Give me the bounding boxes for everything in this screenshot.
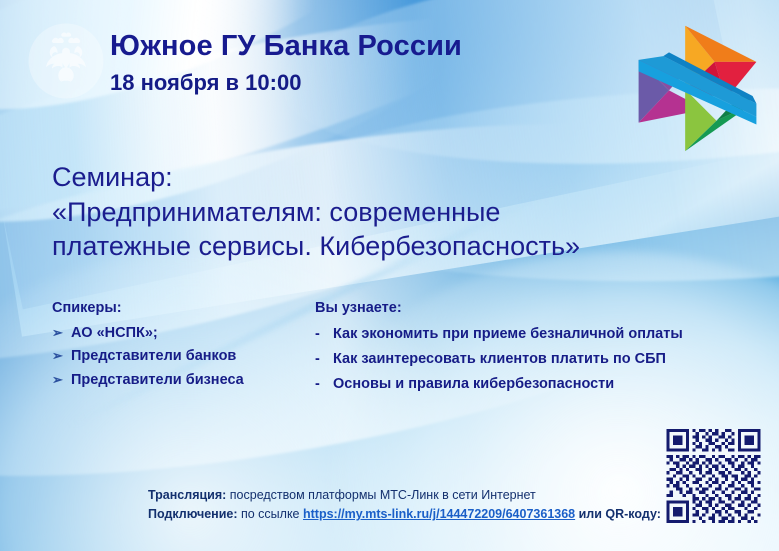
- poster-header: Южное ГУ Банка России 18 ноября в 10:00: [110, 31, 462, 95]
- speakers-heading: Спикеры:: [52, 298, 244, 320]
- footer: Трансляция: посредством платформы МТС-Ли…: [148, 486, 661, 525]
- qr-hint-text: или QR-коду:: [575, 507, 661, 521]
- learn-heading: Вы узнаете:: [315, 298, 683, 320]
- seminar-kicker: Семинар:: [52, 160, 580, 195]
- arrow-bullet-icon: ➢: [52, 322, 71, 343]
- broadcast-text: посредством платформы МТС-Линк в сети Ин…: [226, 488, 535, 502]
- connect-label: Подключение:: [148, 507, 238, 521]
- learn-section: Вы узнаете: - Как экономить при приеме б…: [315, 298, 683, 397]
- arrow-bullet-icon: ➢: [52, 345, 71, 366]
- learn-label: Как экономить при приеме безналичной опл…: [333, 322, 683, 347]
- dash-bullet-icon: -: [315, 322, 333, 347]
- list-item: - Как экономить при приеме безналичной о…: [315, 322, 683, 347]
- page-title: Южное ГУ Банка России: [110, 31, 462, 63]
- list-item: ➢ Представители банков: [52, 345, 244, 368]
- learn-label: Основы и правила кибербезопасности: [333, 372, 614, 397]
- qr-code[interactable]: [666, 429, 761, 523]
- broadcast-line: Трансляция: посредством платформы МТС-Ли…: [148, 486, 661, 505]
- list-item: ➢ Представители бизнеса: [52, 369, 244, 392]
- speaker-label: Представители банков: [71, 345, 236, 368]
- seminar-title-line-2: платежные сервисы. Кибербезопасность»: [52, 229, 580, 264]
- list-item: - Основы и правила кибербезопасности: [315, 372, 683, 397]
- learn-list: - Как экономить при приеме безналичной о…: [315, 322, 683, 397]
- dash-bullet-icon: -: [315, 347, 333, 372]
- arrow-bullet-icon: ➢: [52, 369, 71, 390]
- connect-line: Подключение: по ссылке https://my.mts-li…: [148, 505, 661, 524]
- event-datetime: 18 ноября в 10:00: [110, 71, 462, 95]
- multicolor-triangles-logo-icon: [631, 18, 764, 156]
- seminar-title-block: Семинар: «Предпринимателям: современные …: [52, 160, 580, 264]
- meeting-link[interactable]: https://my.mts-link.ru/j/144472209/64073…: [303, 507, 575, 521]
- bank-of-russia-eagle-icon: [27, 22, 105, 100]
- speaker-label: Представители бизнеса: [71, 369, 244, 392]
- speakers-list: ➢ АО «НСПК»; ➢ Представители банков ➢ Пр…: [52, 322, 244, 392]
- list-item: ➢ АО «НСПК»;: [52, 322, 244, 345]
- seminar-title-line-1: «Предпринимателям: современные: [52, 195, 580, 230]
- seminar-poster: Южное ГУ Банка России 18 ноября в 10:00 …: [0, 0, 779, 551]
- list-item: - Как заинтересовать клиентов платить по…: [315, 347, 683, 372]
- speaker-label: АО «НСПК»;: [71, 322, 158, 345]
- dash-bullet-icon: -: [315, 372, 333, 397]
- connect-text: по ссылке: [238, 507, 303, 521]
- broadcast-label: Трансляция:: [148, 488, 226, 502]
- learn-label: Как заинтересовать клиентов платить по С…: [333, 347, 666, 372]
- speakers-section: Спикеры: ➢ АО «НСПК»; ➢ Представители ба…: [52, 298, 244, 392]
